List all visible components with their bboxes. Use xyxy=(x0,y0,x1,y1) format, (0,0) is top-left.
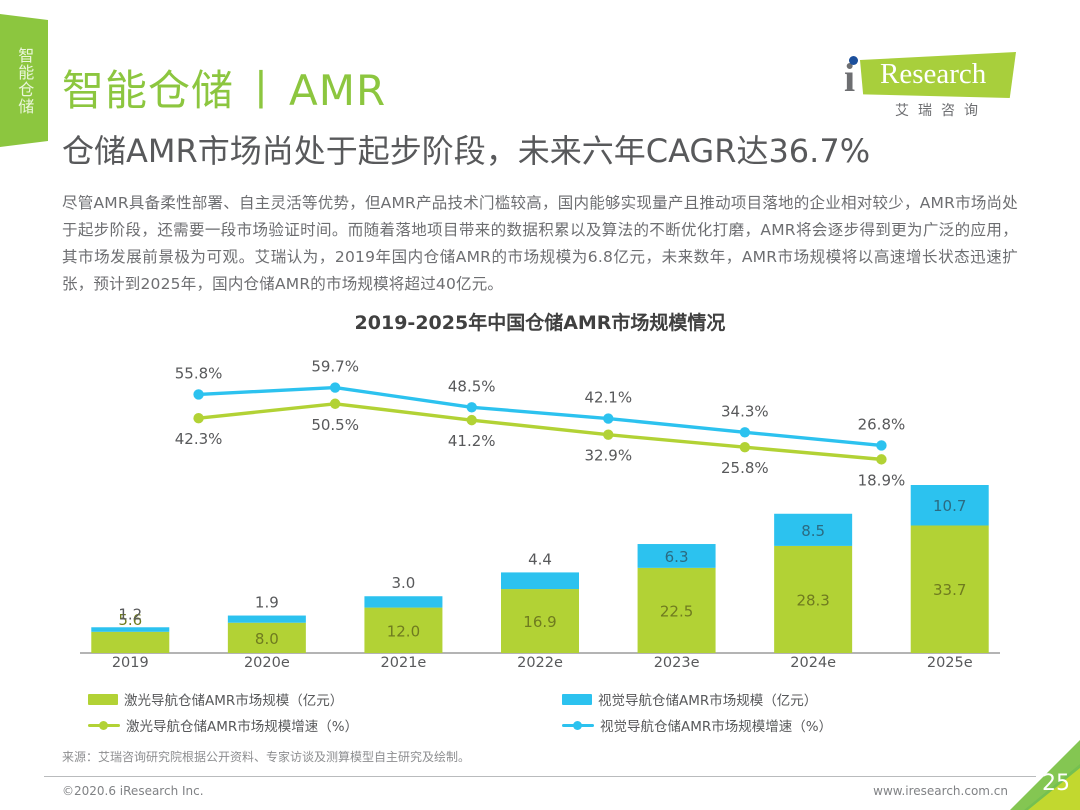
x-axis-label-2025e: 2025e xyxy=(881,655,1018,681)
line-point-laser-growth xyxy=(740,442,750,452)
logo-chinese-name: 艾瑞咨询 xyxy=(866,100,1016,120)
website-text: www.iresearch.com.cn xyxy=(873,784,1008,798)
section-tab: 智能仓储 xyxy=(0,14,48,147)
x-axis-label-2020e: 2020e xyxy=(199,655,336,681)
bar-value-label-vision: 1.2 xyxy=(118,605,142,623)
line-point-vision-growth xyxy=(193,389,203,399)
line-value-label-laser-growth: 18.9% xyxy=(858,471,906,489)
legend-label: 视觉导航仓储AMR市场规模增速（%） xyxy=(600,715,832,735)
line-vision-growth xyxy=(199,388,882,446)
page-title-cn: 智能仓储 xyxy=(62,66,234,115)
chart-title: 2019-2025年中国仓储AMR市场规模情况 xyxy=(0,308,1080,335)
page-number: 25 xyxy=(1042,771,1070,796)
bar-value-label-laser: 12.0 xyxy=(387,622,420,640)
bar-value-label-vision: 1.9 xyxy=(255,594,279,612)
line-point-vision-growth xyxy=(876,440,886,450)
title-divider: 丨 xyxy=(234,66,289,115)
bar-value-label-laser: 16.9 xyxy=(523,613,556,631)
corner-decoration: 25 xyxy=(994,730,1080,810)
line-value-label-laser-growth: 41.2% xyxy=(448,432,496,450)
legend-item-vision-size[interactable]: 视觉导航仓储AMR市场规模（亿元） xyxy=(562,689,992,709)
bar-value-label-laser: 28.3 xyxy=(796,591,829,609)
legend-swatch-line-green xyxy=(88,719,120,731)
bar-value-label-laser: 22.5 xyxy=(660,602,693,620)
logo-dot-icon xyxy=(849,56,858,65)
legend-item-vision-growth[interactable]: 视觉导航仓储AMR市场规模增速（%） xyxy=(562,715,992,735)
bar-value-label-vision: 3.0 xyxy=(391,574,415,592)
line-value-label-vision-growth: 48.5% xyxy=(448,377,496,395)
legend-row-bars: 激光导航仓储AMR市场规模（亿元） 视觉导航仓储AMR市场规模（亿元） xyxy=(62,686,1018,712)
line-value-label-laser-growth: 50.5% xyxy=(311,416,359,434)
line-point-vision-growth xyxy=(467,402,477,412)
x-axis-label-2021e: 2021e xyxy=(335,655,472,681)
source-note: 来源：艾瑞咨询研究院根据公开资料、专家访谈及测算模型自主研究及绘制。 xyxy=(62,748,470,765)
section-tab-label: 智能仓储 xyxy=(14,47,34,115)
line-point-vision-growth xyxy=(740,427,750,437)
slide-page: 智能仓储 智能仓储丨AMR 仓储AMR市场尚处于起步阶段，未来六年CAGR达36… xyxy=(0,0,1080,810)
legend-item-laser-size[interactable]: 激光导航仓储AMR市场规模（亿元） xyxy=(88,689,518,709)
line-value-label-vision-growth: 59.7% xyxy=(311,358,359,376)
page-subtitle: 仓储AMR市场尚处于起步阶段，未来六年CAGR达36.7% xyxy=(62,126,870,172)
line-value-label-laser-growth: 25.8% xyxy=(721,459,769,477)
x-axis-label-2019: 2019 xyxy=(62,655,199,681)
bar-value-label-vision: 6.3 xyxy=(665,548,689,566)
legend-label: 视觉导航仓储AMR市场规模（亿元） xyxy=(598,689,817,709)
copyright-text: ©2020.6 iResearch Inc. xyxy=(62,784,204,798)
chart-area: 5.61.28.01.912.03.016.94.422.56.328.38.5… xyxy=(62,338,1018,668)
line-point-laser-growth xyxy=(330,399,340,409)
line-point-laser-growth xyxy=(603,430,613,440)
x-axis-label-2022e: 2022e xyxy=(472,655,609,681)
bar-segment-vision xyxy=(364,596,442,607)
line-point-laser-growth xyxy=(876,454,886,464)
legend-label: 激光导航仓储AMR市场规模（亿元） xyxy=(124,689,343,709)
footer-divider xyxy=(44,776,1036,777)
legend-swatch-bar-blue xyxy=(562,694,592,705)
logo-wordmark: Research xyxy=(880,60,986,89)
line-value-label-vision-growth: 42.1% xyxy=(584,389,632,407)
line-value-label-vision-growth: 26.8% xyxy=(858,415,906,433)
line-point-laser-growth xyxy=(467,415,477,425)
bar-value-label-vision: 8.5 xyxy=(801,522,825,540)
line-point-vision-growth xyxy=(603,413,613,423)
line-value-label-vision-growth: 55.8% xyxy=(175,364,223,382)
body-paragraph: 尽管AMR具备柔性部署、自主灵活等优势，但AMR产品技术门槛较高，国内能够实现量… xyxy=(62,190,1018,298)
bar-segment-vision xyxy=(228,616,306,623)
bar-value-label-vision: 10.7 xyxy=(933,497,966,515)
page-title-en: AMR xyxy=(289,66,386,115)
market-size-chart: 5.61.28.01.912.03.016.94.422.56.328.38.5… xyxy=(62,338,1018,668)
bar-segment-laser xyxy=(91,632,169,653)
line-point-vision-growth xyxy=(330,382,340,392)
chart-legend: 激光导航仓储AMR市场规模（亿元） 视觉导航仓储AMR市场规模（亿元） 激光导航… xyxy=(62,686,1018,738)
line-value-label-vision-growth: 34.3% xyxy=(721,402,769,420)
legend-item-laser-growth[interactable]: 激光导航仓储AMR市场规模增速（%） xyxy=(88,715,518,735)
line-point-laser-growth xyxy=(193,413,203,423)
legend-swatch-bar-green xyxy=(88,694,118,705)
page-title: 智能仓储丨AMR xyxy=(62,57,386,118)
x-axis-label-2023e: 2023e xyxy=(608,655,745,681)
bar-segment-vision xyxy=(501,572,579,589)
x-axis-label-2024e: 2024e xyxy=(745,655,882,681)
bar-value-label-laser: 8.0 xyxy=(255,630,279,648)
legend-swatch-line-blue xyxy=(562,719,594,731)
x-axis-labels: 20192020e2021e2022e2023e2024e2025e xyxy=(62,655,1018,681)
line-value-label-laser-growth: 42.3% xyxy=(175,430,223,448)
bar-value-label-vision: 4.4 xyxy=(528,550,552,568)
legend-label: 激光导航仓储AMR市场规模增速（%） xyxy=(126,715,358,735)
line-value-label-laser-growth: 32.9% xyxy=(584,447,632,465)
iresearch-logo: i Research 艾瑞咨询 xyxy=(836,52,1016,120)
bar-value-label-laser: 33.7 xyxy=(933,581,966,599)
legend-row-lines: 激光导航仓储AMR市场规模增速（%） 视觉导航仓储AMR市场规模增速（%） xyxy=(62,712,1018,738)
